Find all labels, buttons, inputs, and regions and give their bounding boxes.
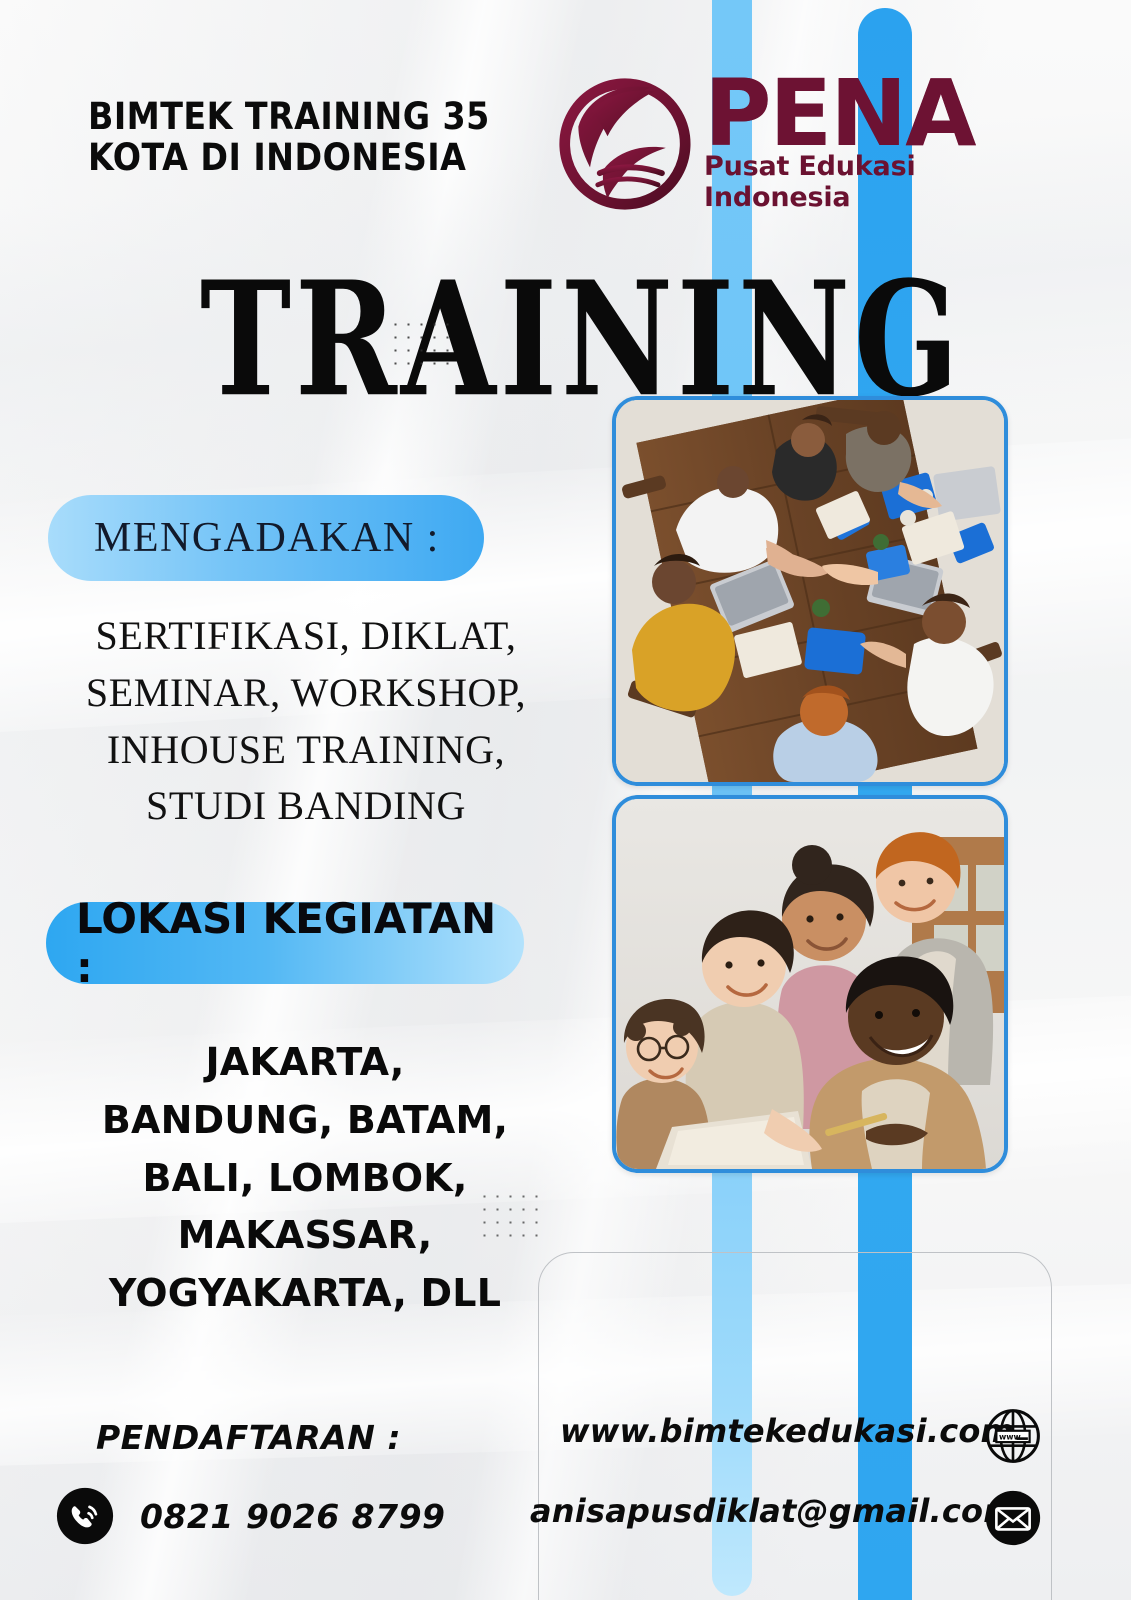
globe-www-icon: www. <box>985 1408 1041 1464</box>
city-item: YOGYAKARTA, DLL <box>40 1265 570 1323</box>
pena-wordmark: PENA <box>704 72 1056 157</box>
phone-contact[interactable]: 0821 9026 8799 <box>56 1487 446 1545</box>
envelope-circle-icon <box>985 1490 1041 1546</box>
phone-circle-icon <box>56 1487 114 1545</box>
website-contact[interactable]: www.bimtekedukasi.com www. <box>560 1412 1014 1450</box>
pill-lokasi-label: LOKASI KEGIATAN : <box>76 894 524 992</box>
cities-list: JAKARTA, BANDUNG, BATAM, BALI, LOMBOK, M… <box>40 1034 570 1323</box>
website-url: www.bimtekedukasi.com <box>560 1412 1014 1450</box>
service-item: INHOUSE TRAINING, <box>42 722 570 779</box>
pill-lokasi-kegiatan: LOKASI KEGIATAN : <box>46 902 524 984</box>
services-list: SERTIFIKASI, DIKLAT, SEMINAR, WORKSHOP, … <box>42 608 570 835</box>
pena-logo: PENA Pusat Edukasi Indonesia <box>556 74 1056 214</box>
email-contact[interactable]: anisapusdiklat@gmail.com <box>530 1492 1017 1530</box>
pill-mengadakan-label: MENGADAKAN : <box>94 514 440 562</box>
pena-tagline: Pusat Edukasi Indonesia <box>704 151 1056 213</box>
pill-mengadakan: MENGADAKAN : <box>48 495 484 581</box>
email-address: anisapusdiklat@gmail.com <box>530 1492 1017 1530</box>
photo-meeting-table <box>612 396 1008 786</box>
dot-grid-decor-cities <box>478 1190 543 1242</box>
service-item: SEMINAR, WORKSHOP, <box>42 665 570 722</box>
pena-logo-text: PENA Pusat Edukasi Indonesia <box>704 72 1056 213</box>
city-item: JAKARTA, <box>40 1034 570 1092</box>
service-item: STUDI BANDING <box>42 778 570 835</box>
dot-grid-decor-title <box>389 318 449 368</box>
photo-team-laptop <box>612 795 1008 1173</box>
service-item: SERTIFIKASI, DIKLAT, <box>42 608 570 665</box>
headline: BIMTEK TRAINING 35 KOTA DI INDONESIA <box>88 96 511 179</box>
quill-feather-circle-icon <box>556 76 694 212</box>
registration-label: PENDAFTARAN : <box>96 1418 401 1457</box>
city-item: BANDUNG, BATAM, <box>40 1092 570 1150</box>
phone-number: 0821 9026 8799 <box>140 1497 446 1536</box>
headline-line-2: KOTA DI INDONESIA <box>88 137 511 178</box>
poster-root: BIMTEK TRAINING 35 KOTA DI INDONESIA <box>0 0 1131 1600</box>
headline-line-1: BIMTEK TRAINING 35 <box>88 96 511 137</box>
svg-text:www.: www. <box>999 1433 1023 1442</box>
